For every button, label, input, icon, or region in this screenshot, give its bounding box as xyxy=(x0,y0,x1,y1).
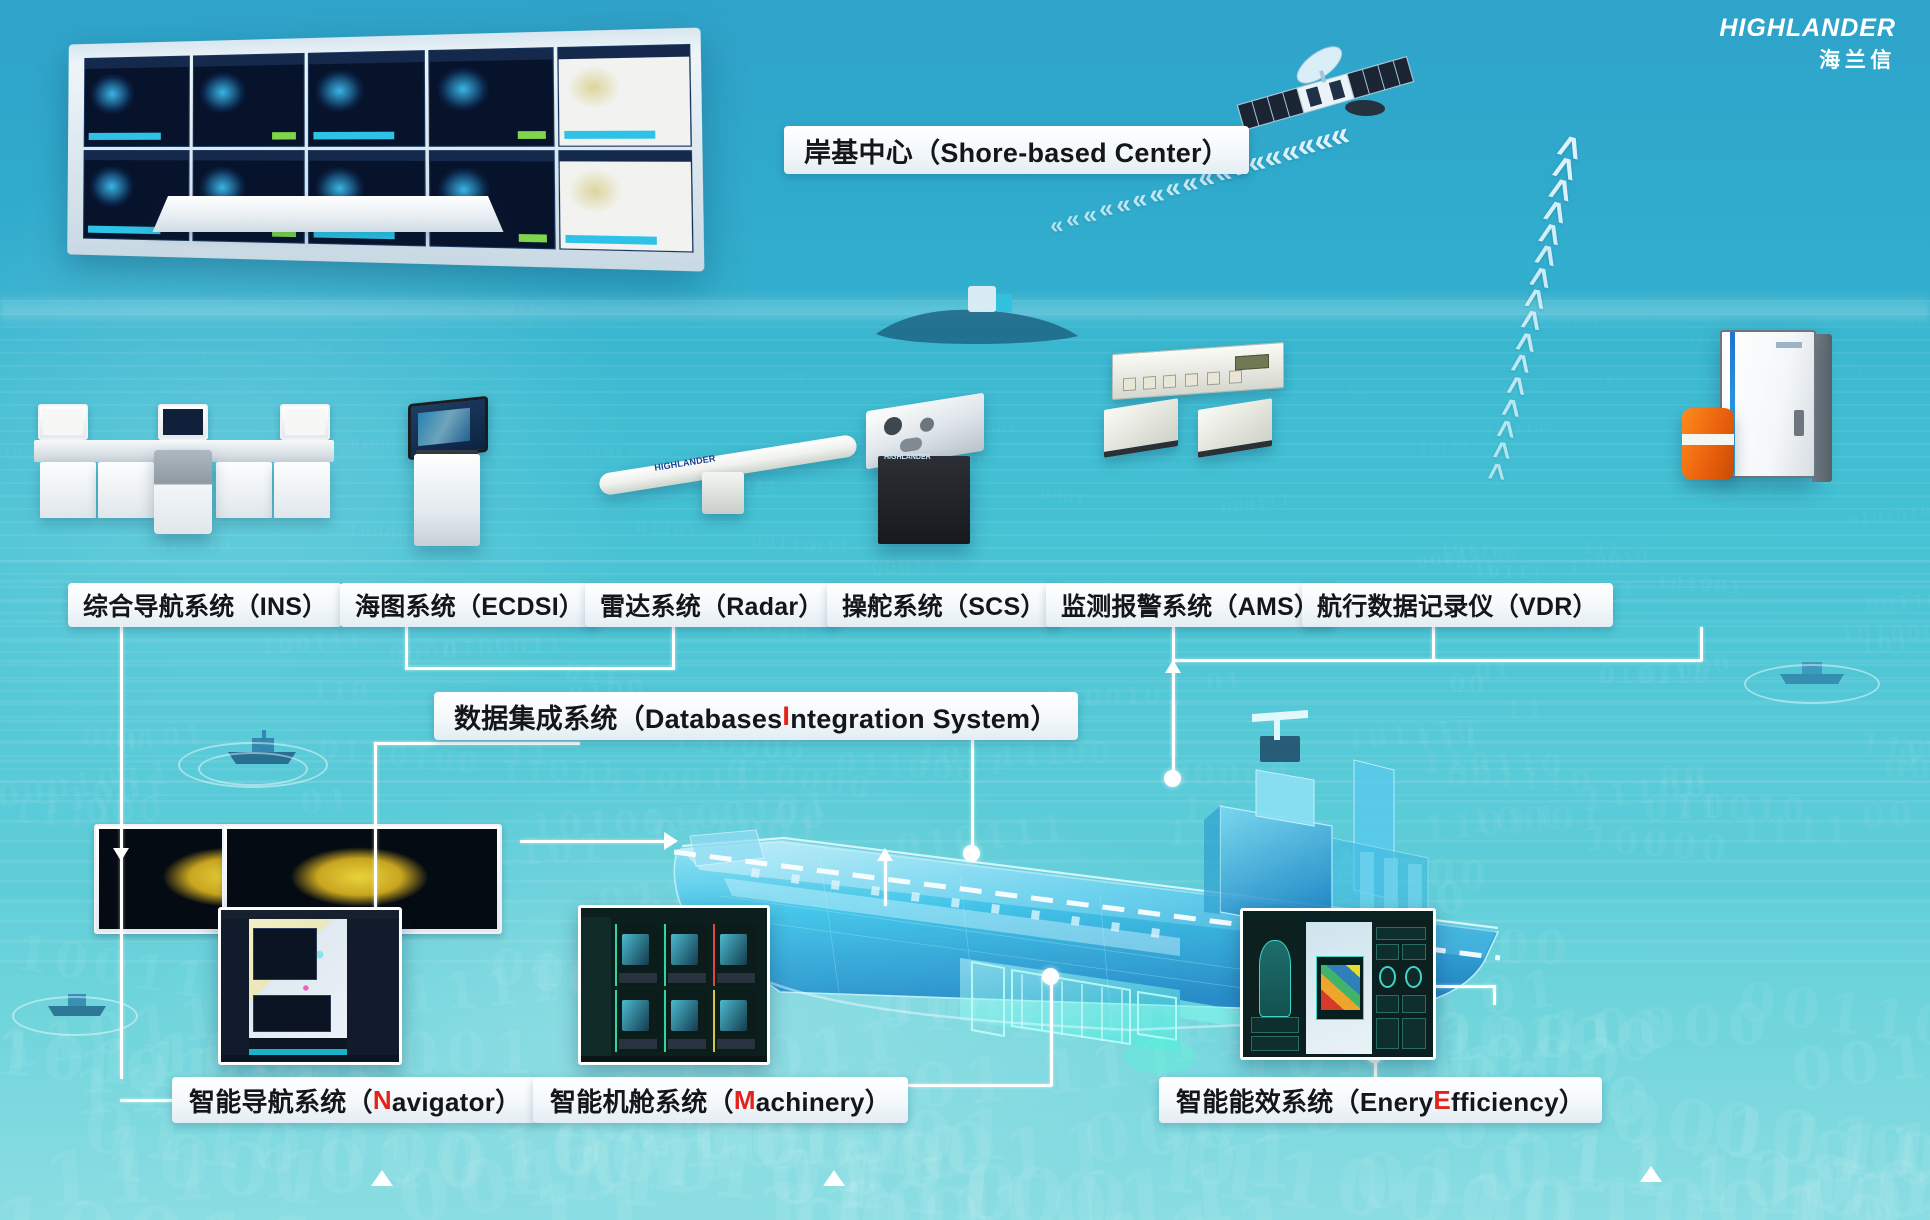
system-label-text: 航行数据记录仪（VDR） xyxy=(1317,587,1598,623)
video-wall-cell-statusbar xyxy=(313,132,394,140)
downlink-chevron-glyph: « xyxy=(1114,191,1132,219)
ams-port-6 xyxy=(1229,370,1242,384)
ams-port-2 xyxy=(1143,376,1156,390)
system-label-3: 雷达系统（Radar） xyxy=(585,583,839,627)
ams-port-1 xyxy=(1123,377,1136,391)
system-label-text: 监测报警系统（AMS） xyxy=(1061,587,1319,623)
video-wall-cell-titlebar xyxy=(559,45,689,59)
video-wall-cell-titlebar xyxy=(309,151,425,161)
vdr-brand-strip xyxy=(1776,342,1802,348)
video-wall-cell-statusbar xyxy=(518,132,546,140)
brand-name-en: HIGHLANDER xyxy=(1719,14,1896,43)
nav-left-toolbar xyxy=(221,919,249,1062)
connector-scs-vertical-lower xyxy=(1172,700,1175,772)
connector-bus-horizontal-left xyxy=(405,667,675,670)
system-label-text: 雷达系统（Radar） xyxy=(600,587,824,623)
smart-label-suffix: fficiency） xyxy=(1451,1082,1585,1119)
shore-center-text: 岸基中心（Shore-based Center） xyxy=(804,131,1229,170)
vessel-ripple-ring xyxy=(12,996,138,1036)
vdr-cabinet-equipment xyxy=(1670,330,1870,510)
video-wall-cell-titlebar xyxy=(560,151,691,162)
eff-titlebar xyxy=(1243,911,1433,920)
vdr-float-free-capsule xyxy=(1682,408,1734,480)
scs-knob-1 xyxy=(884,416,902,437)
scs-wheel xyxy=(900,436,922,452)
ams-io-card-1 xyxy=(1104,398,1178,458)
control-room-floor xyxy=(153,196,504,232)
eff-vessel-outline-icon xyxy=(1259,940,1291,1017)
connector-navigator-horizontal xyxy=(374,742,580,745)
mch-tile-grid xyxy=(611,920,762,1056)
system-label-4: 操舵系统（SCS） xyxy=(827,583,1061,627)
integration-suffix: ntegration System） xyxy=(790,697,1057,736)
mch-tile-1[interactable] xyxy=(615,924,660,986)
eff-metric-header xyxy=(1376,927,1426,940)
ins-helm-station xyxy=(154,450,212,534)
scs-cabinet xyxy=(878,456,970,544)
ship-node-deck xyxy=(963,845,980,862)
system-label-2: 海图系统（ECDSI） xyxy=(340,583,599,627)
triangle-marker-icon xyxy=(371,1170,393,1186)
triangle-marker-icon xyxy=(1640,1166,1662,1182)
ins-cabinet-1 xyxy=(40,462,96,518)
connector-engine-vertical xyxy=(1050,978,1053,1086)
smart-label-suffix: avigator） xyxy=(392,1082,521,1119)
ams-port-3 xyxy=(1163,374,1176,388)
ams-lcd-display xyxy=(1235,354,1269,370)
smart-label-prefix: 智能能效系统（Enery xyxy=(1176,1082,1433,1119)
smart-label-highlight: N xyxy=(373,1085,392,1116)
connector-radar-vertical xyxy=(672,627,675,669)
ins-monitor-5 xyxy=(280,404,330,440)
ins-cabinet-3 xyxy=(216,462,272,518)
ship-node-bridge xyxy=(1164,770,1181,787)
video-wall-column-5 xyxy=(557,44,693,253)
video-wall-cell-5-2 xyxy=(559,150,694,253)
mch-tile-4[interactable] xyxy=(615,990,660,1052)
ins-center-monitor xyxy=(158,404,208,440)
connector-ecdis-vertical xyxy=(405,627,408,669)
energy-efficiency-dashboard-screen[interactable] xyxy=(1240,908,1436,1060)
nav-statusbar xyxy=(221,1055,399,1062)
ins-monitor-1 xyxy=(38,404,88,440)
eff-gauge-2 xyxy=(1405,966,1422,988)
eff-metric-4 xyxy=(1402,995,1425,1013)
smart-label-prefix: 智能机舱系统（ xyxy=(550,1082,734,1119)
connector-machinery-vertical xyxy=(884,860,887,906)
alarm-modules-equipment xyxy=(1098,348,1298,458)
smart-system-label-1: 智能导航系统（Navigator） xyxy=(172,1077,538,1123)
shore-video-wall xyxy=(67,28,704,272)
connector-dis-vertical xyxy=(971,740,974,850)
video-wall-cell-titlebar xyxy=(431,151,554,162)
radar-pedestal xyxy=(702,472,744,514)
video-wall-cell-statusbar xyxy=(89,133,161,140)
ams-port-5 xyxy=(1207,371,1220,385)
nav-route-table xyxy=(253,995,331,1031)
connector-navigator-vertical xyxy=(374,742,377,908)
eff-gauge-1 xyxy=(1379,966,1396,988)
video-wall-frame xyxy=(67,28,704,272)
ecdis-pedestal-equipment xyxy=(392,400,502,545)
downlink-chevron-glyph: « xyxy=(1065,208,1081,234)
downlink-chevron-glyph: « xyxy=(1081,202,1098,229)
eff-slider-1[interactable] xyxy=(1251,1017,1299,1033)
bridge-console-equipment xyxy=(34,404,334,534)
smart-system-label-3: 智能能效系统（Enery Efficiency） xyxy=(1159,1077,1602,1123)
video-wall-cell-3-1 xyxy=(307,50,425,146)
smart-system-label-2: 智能机舱系统（Machinery） xyxy=(533,1077,908,1123)
eff-map-view xyxy=(1306,922,1373,1054)
mch-tile-5[interactable] xyxy=(664,990,709,1052)
downlink-chevron-glyph: « xyxy=(1049,213,1065,238)
smart-label-highlight: E xyxy=(1433,1085,1451,1116)
connector-ins-arrow xyxy=(113,848,129,861)
system-label-1: 综合导航系统（INS） xyxy=(68,583,342,627)
video-wall-cell-2-1 xyxy=(192,53,304,147)
connector-machinery-arrow xyxy=(877,848,893,861)
nav-right-panel xyxy=(347,919,399,1062)
video-wall-cell-titlebar xyxy=(193,151,303,161)
mch-left-nav xyxy=(581,917,611,1062)
integration-prefix: 数据集成系统（Databases xyxy=(454,697,782,736)
vessel-ripple-ring xyxy=(1744,664,1880,704)
smart-label-prefix: 智能导航系统（ xyxy=(189,1082,373,1119)
mch-tile-6[interactable] xyxy=(713,990,758,1052)
scene-root: 0000011100110110011110011000010001001011… xyxy=(0,0,1930,1220)
vdr-cabinet-door xyxy=(1720,330,1816,478)
ams-rack-unit xyxy=(1112,342,1284,400)
machinery-dashboard-screen[interactable] xyxy=(578,905,770,1065)
video-wall-cell-statusbar xyxy=(566,235,657,245)
video-wall-cell-5-1 xyxy=(557,44,691,146)
triangle-marker-icon xyxy=(823,1170,845,1186)
nav-info-overlay xyxy=(253,928,317,980)
connector-bus-horizontal-right xyxy=(1172,659,1702,662)
connector-vdr-vertical xyxy=(1700,627,1703,661)
eff-bar-group-1 xyxy=(1376,1018,1399,1048)
system-label-6: 航行数据记录仪（VDR） xyxy=(1302,583,1613,627)
integration-system-label: 数据集成系统（Databases Integration System） xyxy=(434,692,1078,740)
ecdis-body xyxy=(414,454,480,546)
ins-cabinet-2 xyxy=(98,462,154,518)
vessel-ripple-ring-inner xyxy=(198,752,308,786)
smart-label-suffix: achinery） xyxy=(756,1082,891,1119)
video-wall-cell-1-1 xyxy=(84,56,190,147)
video-wall-cell-titlebar xyxy=(430,48,553,61)
uplink-chevron-glyph: ˄ xyxy=(1486,457,1507,489)
nav-titlebar xyxy=(221,910,399,919)
eff-metric-1 xyxy=(1376,944,1399,960)
steering-console-equipment: HIGHLANDER xyxy=(866,402,986,542)
eff-metric-3 xyxy=(1376,995,1399,1013)
brand-name-cn: 海兰信 xyxy=(1719,44,1896,74)
mch-statusbar xyxy=(581,1056,767,1062)
video-wall-cell-titlebar xyxy=(309,51,425,64)
mch-tile-3[interactable] xyxy=(713,924,758,986)
video-wall-cell-statusbar xyxy=(272,133,297,140)
video-wall-cell-statusbar xyxy=(519,234,547,242)
video-wall-cell-titlebar xyxy=(85,57,188,69)
scs-brand-label: HIGHLANDER xyxy=(884,454,931,461)
mch-tile-2[interactable] xyxy=(664,924,709,986)
video-wall-cell-statusbar xyxy=(565,131,656,139)
system-label-text: 综合导航系统（INS） xyxy=(83,587,327,623)
eff-slider-2[interactable] xyxy=(1251,1036,1299,1052)
eff-metrics-panel xyxy=(1372,922,1429,1054)
mch-titlebar xyxy=(581,908,767,917)
connector-ams-vertical xyxy=(1432,627,1435,661)
brand-logo: HIGHLANDER 海兰信 xyxy=(1719,14,1896,74)
video-wall-cell-titlebar xyxy=(85,151,189,161)
smart-label-highlight: M xyxy=(734,1085,756,1116)
ins-cabinet-4 xyxy=(274,462,330,518)
island-icon xyxy=(872,280,1082,350)
system-label-text: 海图系统（ECDSI） xyxy=(355,587,584,623)
video-wall-cell-4-1 xyxy=(429,47,555,146)
eff-vessel-view xyxy=(1247,922,1304,1054)
connector-efficiency-panel-v xyxy=(1493,985,1496,1005)
system-label-text: 操舵系统（SCS） xyxy=(842,587,1046,623)
ams-port-4 xyxy=(1185,373,1198,387)
scs-knob-2 xyxy=(920,417,934,433)
vdr-door-handle xyxy=(1794,410,1804,436)
system-label-5: 监测报警系统（AMS） xyxy=(1046,583,1334,627)
connector-efficiency-panel xyxy=(1436,985,1496,988)
eff-metric-2 xyxy=(1402,944,1425,960)
connector-bow-arrow xyxy=(664,832,678,850)
navigation-chart-screen[interactable] xyxy=(218,907,402,1065)
eff-bar-group-2 xyxy=(1402,1018,1425,1048)
shore-center-label: 岸基中心（Shore-based Center） xyxy=(784,126,1249,174)
video-wall-cell-statusbar xyxy=(88,225,160,234)
eff-heatmap-chart xyxy=(1316,956,1364,1019)
radar-scanner-equipment: HIGHLANDER xyxy=(598,420,878,530)
ams-io-card-2 xyxy=(1198,398,1272,458)
integration-highlight: I xyxy=(782,701,790,732)
connector-dis-to-bow xyxy=(520,840,668,843)
video-wall-cell-titlebar xyxy=(194,54,303,66)
